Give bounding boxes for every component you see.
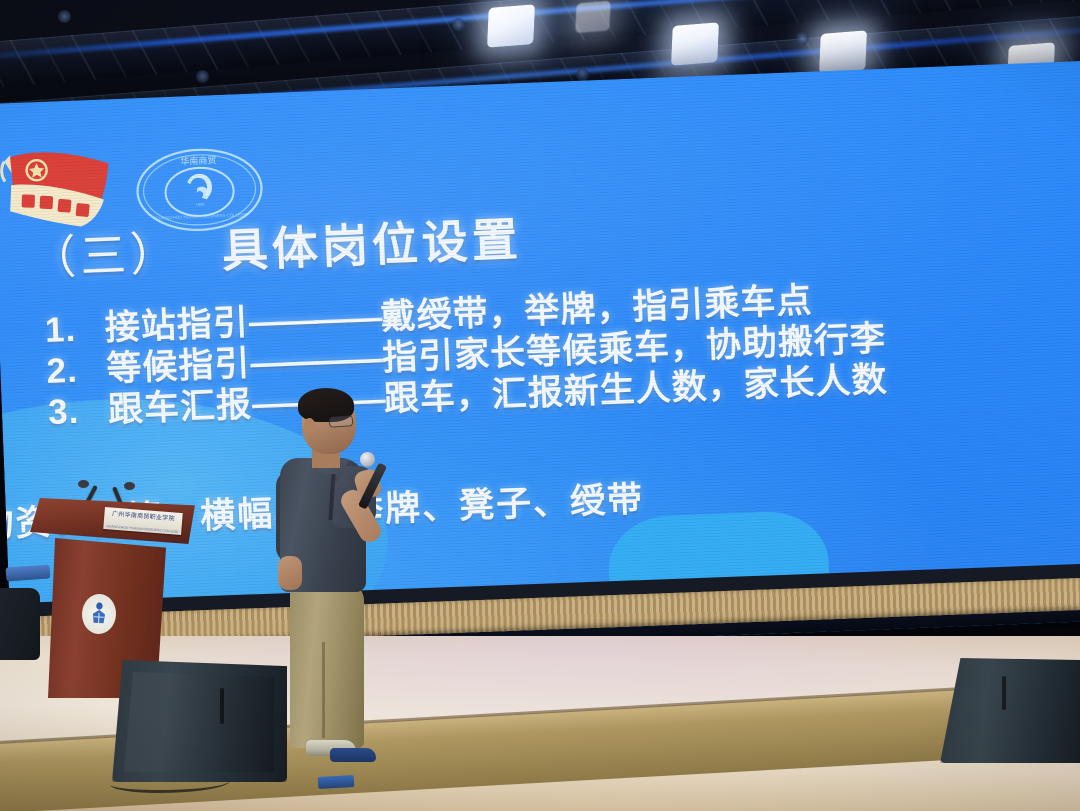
speaker-trousers [290, 584, 364, 748]
truss-lamp-icon [796, 32, 809, 45]
spotlight-icon [819, 30, 867, 74]
spotlight-icon [487, 4, 535, 48]
presentation-photo: 华南商贸 GUANGZHOU HUANAN BUSINESS COLLEGE 1… [0, 0, 1080, 811]
speaker-ear [304, 418, 315, 433]
bullet-label: 跟车汇报 [107, 376, 253, 433]
truss-lamp-icon [576, 68, 589, 81]
stage-monitor-right-handle [1002, 676, 1006, 710]
stage-monitor-right [940, 658, 1080, 763]
spotlight-icon [575, 1, 610, 34]
handheld-microphone-head-icon [360, 452, 375, 467]
truss-lamp-icon [58, 10, 71, 23]
truss-lamp-icon [196, 70, 209, 83]
podium-microphone-head-icon [78, 480, 89, 488]
svg-text:1998: 1998 [196, 202, 206, 207]
slide-title-index: （三） [29, 227, 181, 285]
speaker-person [272, 392, 398, 774]
spotlight-icon [671, 22, 719, 66]
speaker-glasses-icon [329, 415, 354, 428]
speaker-left-hand [278, 556, 302, 590]
podium-microphone-head-icon [124, 482, 135, 490]
blue-floor-object [318, 775, 355, 789]
truss-lamp-icon [452, 18, 465, 31]
slide-title-text: 具体岗位设置 [221, 213, 523, 277]
speaker-trouser-seam [322, 642, 325, 738]
side-speaker-cabinet [0, 588, 40, 660]
stage-monitor-left-handle [220, 688, 224, 724]
stage-monitor-left-grill [124, 672, 274, 772]
speaker-shoe [330, 748, 376, 762]
bullet-number: 3. [47, 391, 109, 433]
svg-text:华南商贸: 华南商贸 [180, 154, 216, 166]
